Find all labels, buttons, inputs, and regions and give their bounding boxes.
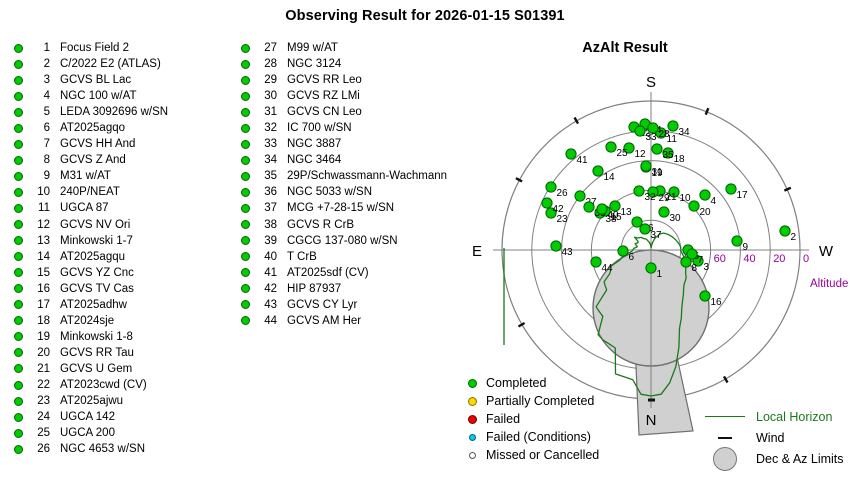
status-legend-item: Partially Completed: [461, 392, 599, 410]
target-list-item[interactable]: 38GCVS R CrB: [241, 217, 447, 233]
observation-marker[interactable]: [546, 182, 556, 192]
observation-point-label: 23: [557, 214, 569, 225]
target-list-item[interactable]: 28NGC 3124: [241, 56, 447, 72]
plot-legend-label: Local Horizon: [756, 410, 832, 424]
status-dot-icon: [14, 188, 23, 197]
observation-point-label: 4: [711, 196, 717, 207]
status-dot-icon: [241, 140, 250, 149]
target-name: LEDA 3092696 w/SN: [60, 106, 168, 118]
target-list-item[interactable]: 44GCVS AM Her: [241, 313, 447, 329]
status-dot-icon: [14, 156, 23, 165]
status-dot-icon: [14, 316, 23, 325]
observation-marker[interactable]: [780, 226, 790, 236]
target-list-item[interactable]: 22AT2023cwd (CV): [14, 377, 168, 393]
target-name: AT2025ajwu: [60, 395, 123, 407]
status-dot-icon: [241, 220, 250, 229]
target-name: UGCA 87: [60, 202, 109, 214]
altitude-tick-label: 60: [714, 253, 726, 265]
target-name: 240P/NEAT: [60, 186, 120, 198]
observation-marker[interactable]: [646, 263, 656, 273]
target-name: AT2025adhw: [60, 299, 127, 311]
target-list-item[interactable]: 10240P/NEAT: [14, 184, 168, 200]
target-list-item[interactable]: 34NGC 3464: [241, 152, 447, 168]
status-dot-icon: [14, 252, 23, 261]
altitude-tick-label: 20: [773, 253, 785, 265]
plot-feature-legend: Local HorizonWindDec & Az Limits: [700, 406, 844, 469]
status-legend-label: Failed: [486, 412, 520, 426]
observation-marker[interactable]: [575, 191, 585, 201]
target-name: HIP 87937: [287, 283, 341, 295]
target-name: GCVS RR Leo: [287, 74, 362, 86]
observation-marker[interactable]: [591, 257, 601, 267]
target-number: 37: [255, 202, 277, 214]
observation-marker[interactable]: [597, 204, 607, 214]
status-dot-icon: [241, 268, 250, 277]
target-number: 24: [28, 411, 50, 423]
altitude-tick-label: 40: [743, 253, 755, 265]
observation-point-label: 8: [692, 263, 698, 274]
observation-marker[interactable]: [726, 184, 736, 194]
status-dot-icon: [241, 284, 250, 293]
observation-point-label: 3: [704, 262, 710, 273]
target-number: 33: [255, 138, 277, 150]
observation-point-label: 41: [577, 155, 589, 166]
target-number: 3: [28, 74, 50, 86]
target-list-item[interactable]: 2C/2022 E2 (ATLAS): [14, 56, 168, 72]
status-legend-item: Missed or Cancelled: [461, 446, 599, 464]
status-dot-icon: [241, 44, 250, 53]
target-number: 34: [255, 154, 277, 166]
status-dot-icon: [241, 316, 250, 325]
wind-marker-icon: [518, 323, 524, 327]
observation-point-label: 14: [604, 172, 616, 183]
observation-point-label: 13: [621, 207, 633, 218]
target-number: 38: [255, 219, 277, 231]
target-list-item[interactable]: 43GCVS CY Lyr: [241, 297, 447, 313]
status-dot-icon: [14, 348, 23, 357]
status-dot-icon: [14, 397, 23, 406]
target-list-item[interactable]: 25UGCA 200: [14, 425, 168, 441]
observation-marker[interactable]: [681, 257, 691, 267]
observation-point[interactable]: 42: [542, 198, 564, 215]
wind-marker-icon: [700, 437, 750, 439]
target-name: NGC 5033 w/SN: [287, 186, 372, 198]
wind-marker-icon: [706, 108, 709, 114]
target-number: 41: [255, 267, 277, 279]
observation-point-label: 29: [659, 193, 671, 204]
target-list-item[interactable]: 27M99 w/AT: [241, 40, 447, 56]
target-list-column-1: 1Focus Field 22C/2022 E2 (ATLAS)3GCVS BL…: [14, 40, 168, 457]
target-number: 14: [28, 251, 50, 263]
target-list-item[interactable]: 4NGC 100 w/AT: [14, 88, 168, 104]
target-name: CGCG 137-080 w/SN: [287, 235, 398, 247]
target-list-item[interactable]: 15GCVS YZ Cnc: [14, 265, 168, 281]
target-list-item[interactable]: 31GCVS CN Leo: [241, 104, 447, 120]
target-list-column-2: 27M99 w/AT28NGC 312429GCVS RR Leo30GCVS …: [241, 40, 447, 329]
observation-point[interactable]: 44: [591, 257, 613, 274]
wind-marker-icon: [575, 117, 579, 123]
status-dot-icon: [241, 172, 250, 181]
plot-legend-label: Dec & Az Limits: [756, 452, 844, 466]
target-list-item[interactable]: 37MCG +7-28-15 w/SN: [241, 200, 447, 216]
limits-circle-icon: [700, 447, 750, 471]
observation-point-label: 6: [629, 252, 635, 263]
status-dot-icon: [241, 236, 250, 245]
status-dot-icon: [14, 300, 23, 309]
observation-marker[interactable]: [593, 166, 603, 176]
target-name: NGC 100 w/AT: [60, 90, 136, 102]
status-dot-icon: [14, 332, 23, 341]
observation-marker[interactable]: [584, 202, 594, 212]
observation-point[interactable]: 20: [689, 201, 711, 218]
observation-point-label: 16: [711, 297, 723, 308]
observation-point-label: 2: [791, 232, 797, 243]
target-name: UGCA 200: [60, 427, 115, 439]
target-list-item[interactable]: 19Minkowski 1-8: [14, 329, 168, 345]
target-list-item[interactable]: 23AT2025ajwu: [14, 393, 168, 409]
wind-marker-icon: [784, 188, 790, 191]
target-list-item[interactable]: 7GCVS HH And: [14, 136, 168, 152]
target-list-item[interactable]: 29GCVS RR Leo: [241, 72, 447, 88]
status-legend-label: Missed or Cancelled: [486, 448, 599, 462]
target-name: NGC 4653 w/SN: [60, 443, 145, 455]
target-list-item[interactable]: 17AT2025adhw: [14, 297, 168, 313]
observation-marker[interactable]: [551, 241, 561, 251]
status-dot-icon: [241, 204, 250, 213]
plot-legend-item: Wind: [700, 427, 844, 448]
target-list-item[interactable]: 3529P/Schwassmann-Wachmann: [241, 168, 447, 184]
target-number: 13: [28, 235, 50, 247]
target-name: T CrB: [287, 251, 317, 263]
observation-marker[interactable]: [652, 144, 662, 154]
target-list-item[interactable]: 36NGC 5033 w/SN: [241, 184, 447, 200]
observation-marker[interactable]: [659, 207, 669, 217]
target-name: Minkowski 1-8: [60, 331, 133, 343]
status-dot-icon: [241, 300, 250, 309]
status-dot-icon: [241, 252, 250, 261]
target-name: GCVS Z And: [60, 154, 126, 166]
status-dot-icon: [14, 108, 23, 117]
target-name: Focus Field 2: [60, 42, 129, 54]
target-name: AT2025sdf (CV): [287, 267, 369, 279]
target-number: 12: [28, 219, 50, 231]
wind-marker-icon: [516, 178, 522, 181]
target-number: 16: [28, 283, 50, 295]
target-list-item[interactable]: 13Minkowski 1-7: [14, 233, 168, 249]
target-number: 22: [28, 379, 50, 391]
status-dot-icon: [14, 124, 23, 133]
status-dot-icon: [241, 76, 250, 85]
observation-marker[interactable]: [641, 161, 651, 171]
target-number: 30: [255, 90, 277, 102]
target-name: IC 700 w/SN: [287, 122, 352, 134]
target-name: AT2025agqu: [60, 251, 125, 263]
target-name: NGC 3464: [287, 154, 341, 166]
target-number: 35: [255, 170, 277, 182]
altitude-tick-label: 0: [803, 253, 809, 265]
target-list-item[interactable]: 9M31 w/AT: [14, 168, 168, 184]
observation-marker[interactable]: [700, 190, 710, 200]
observation-point-label: 7: [698, 255, 704, 266]
status-dot-icon: [14, 364, 23, 373]
status-dot-icon: [241, 92, 250, 101]
observation-point[interactable]: 35: [652, 144, 674, 161]
status-dot-icon: [14, 44, 23, 53]
status-dot-icon: [461, 379, 483, 388]
status-dot-icon: [14, 76, 23, 85]
observation-point[interactable]: 31: [641, 161, 663, 178]
status-legend-item: Completed: [461, 374, 599, 392]
observation-point-label: 25: [617, 148, 629, 159]
observation-point-label: 43: [562, 247, 574, 258]
target-number: 1: [28, 42, 50, 54]
plot-legend-item: Dec & Az Limits: [700, 448, 844, 469]
target-name: GCVS HH And: [60, 138, 135, 150]
target-list-item[interactable]: 32IC 700 w/SN: [241, 120, 447, 136]
target-name: M99 w/AT: [287, 42, 338, 54]
observation-point-label: 44: [602, 263, 614, 274]
status-dot-icon: [14, 429, 23, 438]
target-number: 40: [255, 251, 277, 263]
target-list-item[interactable]: 8GCVS Z And: [14, 152, 168, 168]
target-name: NGC 3124: [287, 58, 341, 70]
observation-marker[interactable]: [635, 126, 645, 136]
observation-point-label: 42: [553, 204, 565, 215]
target-number: 5: [28, 106, 50, 118]
observation-marker[interactable]: [689, 201, 699, 211]
observation-point-label: 34: [679, 127, 691, 138]
observation-point-label: 31: [652, 167, 664, 178]
status-dot-icon: [241, 188, 250, 197]
target-number: 17: [28, 299, 50, 311]
status-dot-icon: [14, 204, 23, 213]
target-name: 29P/Schwassmann-Wachmann: [287, 170, 447, 182]
status-dot-icon: [14, 220, 23, 229]
status-dot-icon: [461, 397, 483, 406]
observation-marker[interactable]: [566, 149, 576, 159]
target-list-item[interactable]: 24UGCA 142: [14, 409, 168, 425]
status-dot-icon: [14, 445, 23, 454]
target-list-item[interactable]: 41AT2025sdf (CV): [241, 265, 447, 281]
observation-point-label: 20: [700, 207, 712, 218]
target-list-item[interactable]: 21GCVS U Gem: [14, 361, 168, 377]
observation-point-label: 40: [608, 210, 620, 221]
target-name: C/2022 E2 (ATLAS): [60, 58, 161, 70]
observation-point-label: 37: [651, 230, 663, 241]
target-name: GCVS TV Cas: [60, 283, 134, 295]
target-number: 18: [28, 315, 50, 327]
target-number: 20: [28, 347, 50, 359]
target-name: GCVS BL Lac: [60, 74, 131, 86]
observation-point-label: 28: [659, 129, 671, 140]
observation-point[interactable]: 17: [726, 184, 748, 201]
page-title: Observing Result for 2026-01-15 S01391: [0, 8, 850, 24]
status-dot-icon: [461, 415, 483, 424]
status-dot-icon: [14, 268, 23, 277]
target-number: 7: [28, 138, 50, 150]
target-list-item[interactable]: 1Focus Field 2: [14, 40, 168, 56]
cardinal-north: N: [646, 412, 657, 429]
target-list-item[interactable]: 14AT2025agqu: [14, 249, 168, 265]
observation-point-label: 9: [743, 242, 749, 253]
target-list-item[interactable]: 42HIP 87937: [241, 281, 447, 297]
observation-marker[interactable]: [618, 246, 628, 256]
target-name: M31 w/AT: [60, 170, 111, 182]
target-list-item[interactable]: 40T CrB: [241, 249, 447, 265]
observation-marker[interactable]: [640, 224, 650, 234]
observation-marker[interactable]: [542, 198, 552, 208]
target-number: 44: [255, 315, 277, 327]
status-dot-icon: [241, 156, 250, 165]
target-name: GCVS U Gem: [60, 363, 132, 375]
target-list-item[interactable]: 39CGCG 137-080 w/SN: [241, 233, 447, 249]
observation-point[interactable]: 4: [700, 190, 717, 207]
target-name: AT2023cwd (CV): [60, 379, 147, 391]
target-number: 15: [28, 267, 50, 279]
status-dot-icon: [14, 413, 23, 422]
status-legend: CompletedPartially CompletedFailedFailed…: [461, 374, 599, 464]
plot-legend-item: Local Horizon: [700, 406, 844, 427]
target-name: Minkowski 1-7: [60, 235, 133, 247]
altitude-axis-label: Altitude: [810, 278, 848, 290]
cardinal-west: W: [819, 243, 834, 260]
observation-marker[interactable]: [732, 236, 742, 246]
observation-point-label: 32: [645, 192, 657, 203]
target-number: 11: [28, 202, 50, 214]
target-number: 25: [28, 427, 50, 439]
target-list-item[interactable]: 5LEDA 3092696 w/SN: [14, 104, 168, 120]
target-name: AT2024sje: [60, 315, 114, 327]
target-number: 9: [28, 170, 50, 182]
target-number: 39: [255, 235, 277, 247]
status-legend-label: Failed (Conditions): [486, 430, 591, 444]
target-list-item[interactable]: 6AT2025agqo: [14, 120, 168, 136]
observation-marker[interactable]: [700, 291, 710, 301]
status-dot-icon: [461, 434, 483, 441]
wind-marker-icon: [724, 376, 728, 382]
target-name: UGCA 142: [60, 411, 115, 423]
target-list-item[interactable]: 12GCVS NV Ori: [14, 217, 168, 233]
observation-point[interactable]: 30: [659, 207, 681, 224]
observation-marker[interactable]: [668, 121, 678, 131]
status-legend-label: Partially Completed: [486, 394, 594, 408]
observation-point-label: 1: [657, 269, 663, 280]
observation-point-label: 12: [635, 149, 647, 160]
observation-point[interactable]: 26: [546, 182, 568, 199]
target-number: 42: [255, 283, 277, 295]
status-dot-icon: [14, 60, 23, 69]
observation-point-label: 10: [680, 193, 692, 204]
status-legend-item: Failed: [461, 410, 599, 428]
status-dot-icon: [241, 60, 250, 69]
target-number: 28: [255, 58, 277, 70]
status-dot-icon: [14, 284, 23, 293]
target-number: 29: [255, 74, 277, 86]
target-name: GCVS YZ Cnc: [60, 267, 134, 279]
target-number: 27: [255, 42, 277, 54]
status-dot-icon: [14, 381, 23, 390]
cardinal-south: S: [646, 74, 656, 91]
target-number: 23: [28, 395, 50, 407]
observation-point-label: 35: [663, 150, 675, 161]
target-name: GCVS CY Lyr: [287, 299, 357, 311]
target-list-item[interactable]: 16GCVS TV Cas: [14, 281, 168, 297]
target-name: MCG +7-28-15 w/SN: [287, 202, 394, 214]
observation-point[interactable]: 2: [780, 226, 797, 243]
target-number: 26: [28, 443, 50, 455]
target-list-item[interactable]: 33NGC 3887: [241, 136, 447, 152]
target-name: GCVS NV Ori: [60, 219, 130, 231]
observation-point-label: 30: [670, 213, 682, 224]
observation-point-label: 18: [674, 154, 686, 165]
target-number: 21: [28, 363, 50, 375]
target-number: 10: [28, 186, 50, 198]
cardinal-east: E: [472, 243, 482, 260]
status-dot-icon: [461, 452, 483, 459]
status-legend-item: Failed (Conditions): [461, 428, 599, 446]
target-name: AT2025agqo: [60, 122, 125, 134]
observation-point-label: 26: [557, 188, 569, 199]
target-list-item[interactable]: 18AT2024sje: [14, 313, 168, 329]
status-dot-icon: [14, 172, 23, 181]
target-name: NGC 3887: [287, 138, 341, 150]
target-name: GCVS RR Tau: [60, 347, 134, 359]
status-dot-icon: [241, 108, 250, 117]
observation-marker[interactable]: [606, 142, 616, 152]
observation-point-label: 17: [737, 190, 749, 201]
status-legend-label: Completed: [486, 376, 546, 390]
observation-point[interactable]: 14: [593, 166, 615, 183]
status-dot-icon: [14, 92, 23, 101]
target-name: GCVS CN Leo: [287, 106, 362, 118]
target-number: 36: [255, 186, 277, 198]
observation-marker[interactable]: [632, 217, 642, 227]
status-dot-icon: [241, 124, 250, 133]
target-name: GCVS RZ LMi: [287, 90, 360, 102]
target-number: 6: [28, 122, 50, 134]
target-list-item[interactable]: 26NGC 4653 w/SN: [14, 441, 168, 457]
target-list-item[interactable]: 20GCVS RR Tau: [14, 345, 168, 361]
target-number: 4: [28, 90, 50, 102]
target-number: 32: [255, 122, 277, 134]
target-number: 43: [255, 299, 277, 311]
target-list-item[interactable]: 11UGCA 87: [14, 200, 168, 216]
horizon-line-icon: [700, 416, 750, 417]
observation-point-label: 33: [646, 132, 658, 143]
target-name: GCVS AM Her: [287, 315, 361, 327]
target-name: GCVS R CrB: [287, 219, 354, 231]
plot-legend-label: Wind: [756, 431, 784, 445]
target-number: 8: [28, 154, 50, 166]
observation-marker[interactable]: [634, 186, 644, 196]
target-number: 31: [255, 106, 277, 118]
status-dot-icon: [14, 140, 23, 149]
target-list-item[interactable]: 30GCVS RZ LMi: [241, 88, 447, 104]
target-list-item[interactable]: 3GCVS BL Lac: [14, 72, 168, 88]
target-number: 19: [28, 331, 50, 343]
target-number: 2: [28, 58, 50, 70]
status-dot-icon: [14, 236, 23, 245]
